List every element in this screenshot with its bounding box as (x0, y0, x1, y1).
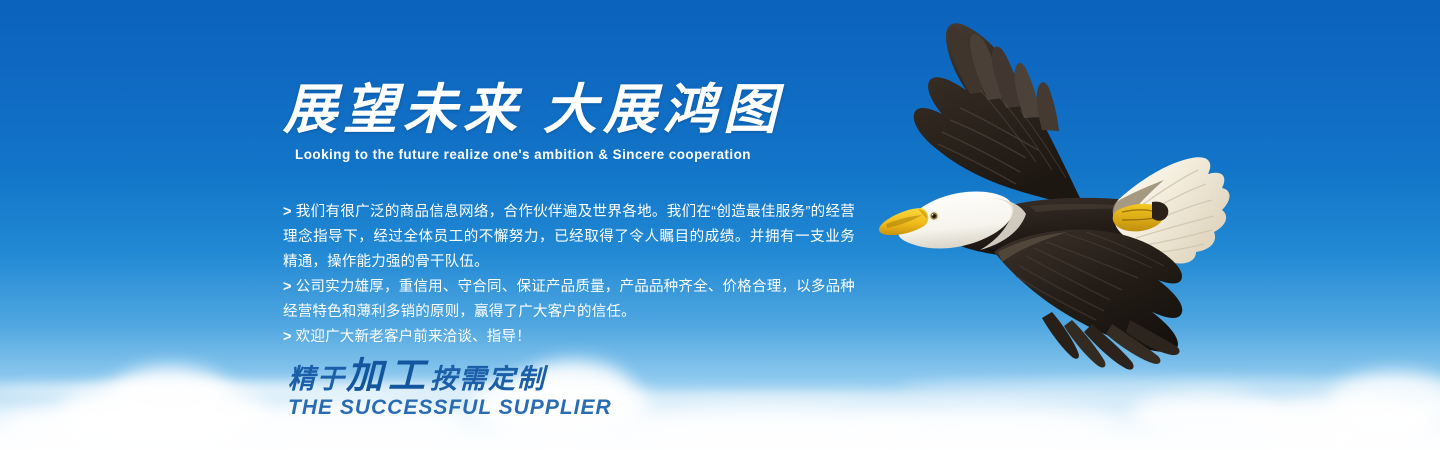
bullet-marker: > (283, 279, 292, 295)
headline-part-2: 大展鸿图 (543, 77, 783, 141)
slogan-chinese: 精于加工按需定制 (288, 358, 546, 397)
paragraph-text: 欢迎广大新老客户前来洽谈、指导！ (296, 329, 531, 345)
description-paragraph-1: >我们有很广泛的商品信息网络，合作伙伴遍及世界各地。我们在“创造最佳服务”的经营… (283, 200, 855, 275)
description-paragraph-3: >欢迎广大新老客户前来洽谈、指导！ (283, 325, 855, 350)
hero-banner: 展望未来大展鸿图 Looking to the future realize o… (0, 0, 1440, 450)
headline-part-1: 展望未来 (283, 77, 523, 141)
company-description: >我们有很广泛的商品信息网络，合作伙伴遍及世界各地。我们在“创造最佳服务”的经营… (283, 200, 855, 350)
paragraph-text: 公司实力雄厚，重信用、守合同、保证产品质量，产品品种齐全、价格合理，以多品种经营… (283, 279, 855, 320)
slogan-prefix: 精于 (288, 364, 346, 395)
eagle-upper-wing (914, 23, 1080, 207)
slogan-emphasis: 加工 (346, 353, 430, 397)
bullet-marker: > (283, 204, 292, 220)
slogan-suffix: 按需定制 (430, 364, 546, 395)
banner-text-block: 展望未来大展鸿图 Looking to the future realize o… (0, 0, 880, 450)
slogan-english: THE SUCCESSFUL SUPPLIER (288, 396, 612, 420)
paragraph-text: 我们有很广泛的商品信息网络，合作伙伴遍及世界各地。我们在“创造最佳服务”的经营理… (283, 204, 855, 270)
page-title: 展望未来大展鸿图 (283, 78, 783, 140)
bald-eagle-illustration (830, 2, 1230, 402)
page-subtitle: Looking to the future realize one's ambi… (295, 147, 751, 162)
eagle-lower-wing (994, 230, 1182, 370)
description-paragraph-2: >公司实力雄厚，重信用、守合同、保证产品质量，产品品种齐全、价格合理，以多品种经… (283, 275, 855, 325)
bullet-marker: > (283, 329, 292, 345)
